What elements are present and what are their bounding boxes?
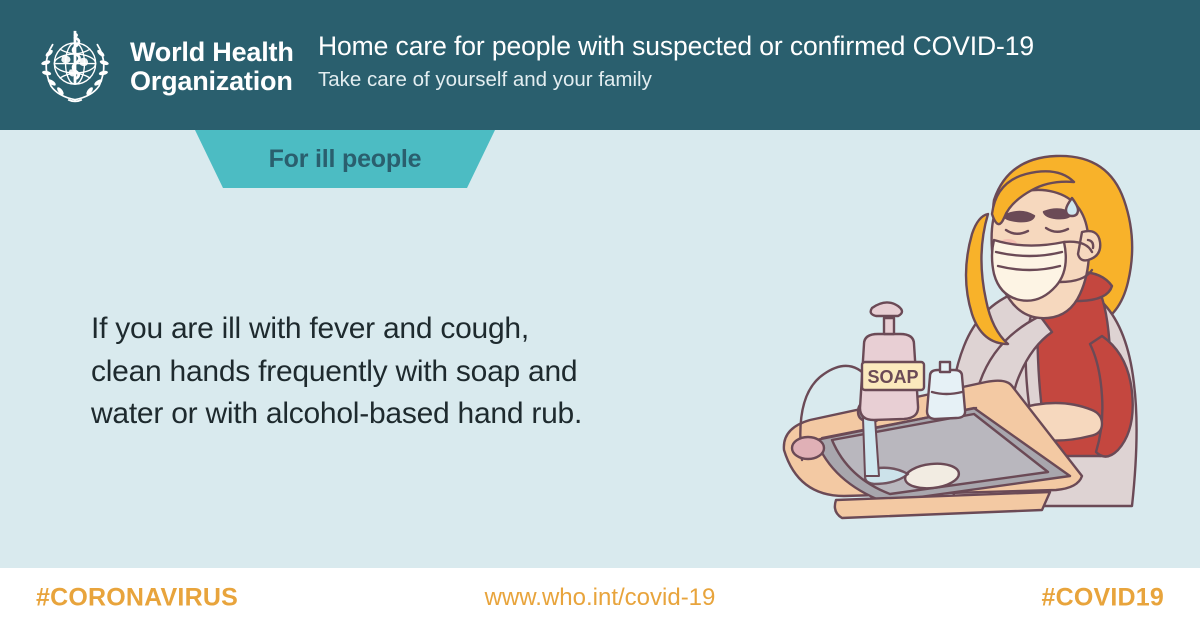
footer-url[interactable]: www.who.int/covid-19	[0, 584, 1200, 612]
body-area: For ill people If you are ill with fever…	[0, 130, 1200, 568]
who-wordmark-line1: World Health	[130, 38, 294, 67]
who-emblem-icon	[32, 24, 118, 110]
main-message: If you are ill with fever and cough, cle…	[91, 308, 582, 436]
soap-bottle-label: SOAP	[867, 367, 918, 387]
footer-hashtag-covid19: #COVID19	[1042, 584, 1165, 613]
header-text-block: Home care for people with suspected or c…	[318, 31, 1034, 93]
main-message-line-2: clean hands frequently with soap and	[91, 351, 582, 394]
page-title: Home care for people with suspected or c…	[318, 31, 1034, 62]
who-logo: World Health Organization	[32, 24, 294, 110]
who-wordmark-line2: Organization	[130, 67, 294, 96]
page-subtitle: Take care of yourself and your family	[318, 68, 1034, 93]
person-washing-hands-at-sink-illustration: .ln { stroke:#6b4a56; stroke-width:2.4; …	[772, 140, 1192, 560]
header-bar: World Health Organization Home care for …	[0, 0, 1200, 130]
main-message-line-1: If you are ill with fever and cough,	[91, 308, 582, 351]
who-wordmark: World Health Organization	[130, 38, 294, 96]
category-ribbon: For ill people	[195, 130, 495, 188]
ribbon-label: For ill people	[195, 130, 495, 188]
main-message-line-3: water or with alcohol-based hand rub.	[91, 393, 582, 436]
who-covid19-home-care-infographic: World Health Organization Home care for …	[0, 0, 1200, 628]
footer-bar: #CORONAVIRUS www.who.int/covid-19 #COVID…	[0, 568, 1200, 628]
